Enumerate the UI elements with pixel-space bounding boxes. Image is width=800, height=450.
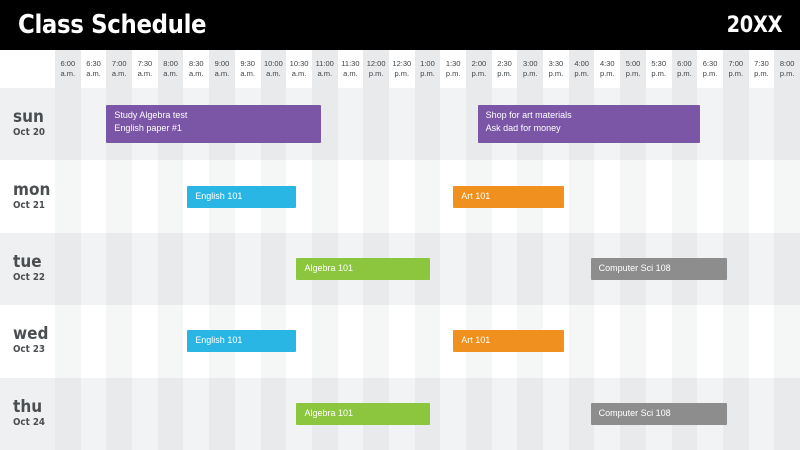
event-text: English paper #1 [114,122,313,135]
time-meridiem: p.m. [446,69,461,79]
event-text: Algebra 101 [304,407,422,420]
event-block[interactable]: Computer Sci 108 [591,258,727,280]
time-meridiem: p.m. [600,69,615,79]
time-meridiem: a.m. [266,69,281,79]
day-name: sun [13,108,51,126]
time-hour: 11:30 [341,59,359,69]
time-hour: 10:00 [264,59,283,69]
time-axis-label: 11:30a.m. [338,50,364,88]
time-axis-header: 6:00a.m.6:30a.m.7:00a.m.7:30a.m.8:00a.m.… [0,50,800,88]
time-hour: 6:30 [703,59,718,69]
event-block[interactable]: Shop for art materialsAsk dad for money [478,105,700,143]
time-axis-label: 4:30p.m. [594,50,620,88]
time-axis-label: 9:30a.m. [235,50,261,88]
time-hour: 3:30 [549,59,564,69]
schedule-page: Class Schedule 20XX 6:00a.m.6:30a.m.7:00… [0,0,800,450]
time-meridiem: p.m. [651,69,666,79]
time-axis-label: 2:30p.m. [492,50,518,88]
time-meridiem: p.m. [703,69,718,79]
time-axis-label: 4:00p.m. [569,50,595,88]
day-date: Oct 21 [13,199,52,213]
time-hour: 6:30 [86,59,101,69]
time-axis-label: 8:30a.m. [183,50,209,88]
time-axis-label: 10:30a.m. [286,50,312,88]
time-hour: 4:30 [600,59,615,69]
time-meridiem: a.m. [61,69,76,79]
time-axis-label: 12:00p.m. [363,50,389,88]
event-text: Art 101 [461,334,555,347]
day-date: Oct 20 [13,126,52,140]
time-axis-label: 6:30a.m. [81,50,107,88]
time-meridiem: p.m. [549,69,564,79]
time-meridiem: a.m. [343,69,358,79]
time-hour: 10:30 [290,59,309,69]
time-hour: 2:00 [472,59,487,69]
time-meridiem: a.m. [215,69,230,79]
time-meridiem: a.m. [86,69,101,79]
event-block[interactable]: Art 101 [453,186,563,208]
day-name: wed [13,325,51,343]
time-hour: 6:00 [677,59,692,69]
time-hour: 6:00 [61,59,76,69]
time-meridiem: p.m. [677,69,692,79]
time-meridiem: a.m. [163,69,178,79]
time-axis-label: 11:00a.m. [312,50,338,88]
day-date: Oct 22 [13,271,52,285]
time-axis-label: 12:30p.m. [389,50,415,88]
day-label-tue: tueOct 22 [0,233,55,305]
title-bar: Class Schedule 20XX [0,0,800,50]
time-hour: 8:00 [163,59,178,69]
time-axis-label: 6:30p.m. [697,50,723,88]
time-hour: 7:00 [112,59,127,69]
time-axis-label: 9:00a.m. [209,50,235,88]
day-row-sun: sunOct 20Study Algebra testEnglish paper… [0,88,800,160]
time-axis-label: 8:00p.m. [774,50,800,88]
time-axis-label: 3:30p.m. [543,50,569,88]
time-meridiem: p.m. [369,69,384,79]
day-row-mon: monOct 21English 101Art 101 [0,160,800,232]
page-title: Class Schedule [18,10,206,40]
time-hour: 12:30 [392,59,411,69]
time-axis-label: 7:00a.m. [106,50,132,88]
time-meridiem: p.m. [574,69,589,79]
event-text: Ask dad for money [486,122,692,135]
day-row-wed: wedOct 23English 101Art 101 [0,305,800,377]
event-text: English 101 [195,190,288,203]
day-name: thu [13,398,51,416]
year-label: 20XX [726,13,782,38]
time-axis-label: 6:00a.m. [55,50,81,88]
time-axis-label: 8:00a.m. [158,50,184,88]
time-hour: 1:30 [446,59,461,69]
time-meridiem: p.m. [626,69,641,79]
event-text: Study Algebra test [114,109,313,122]
time-hour: 8:30 [189,59,204,69]
event-text: Art 101 [461,190,555,203]
day-label-thu: thuOct 24 [0,378,55,450]
time-hour: 3:00 [523,59,538,69]
time-meridiem: p.m. [497,69,512,79]
day-label-sun: sunOct 20 [0,88,55,160]
day-label-wed: wedOct 23 [0,305,55,377]
time-axis-label: 1:00p.m. [415,50,441,88]
event-text: Algebra 101 [304,262,422,275]
time-hour: 9:30 [240,59,255,69]
day-row-tue: tueOct 22Algebra 101Computer Sci 108 [0,233,800,305]
event-text: Computer Sci 108 [599,407,719,420]
time-meridiem: a.m. [189,69,204,79]
time-meridiem: a.m. [240,69,255,79]
event-block[interactable]: Art 101 [453,330,563,352]
time-axis-label: 7:30a.m. [132,50,158,88]
time-meridiem: p.m. [754,69,769,79]
time-axis-label: 7:30p.m. [749,50,775,88]
time-meridiem: p.m. [523,69,538,79]
time-axis-label: 3:00p.m. [517,50,543,88]
day-date: Oct 23 [13,343,52,357]
day-name: mon [13,181,51,199]
event-text: English 101 [195,334,288,347]
time-axis-label: 2:00p.m. [466,50,492,88]
day-label-mon: monOct 21 [0,160,55,232]
day-rows: sunOct 20Study Algebra testEnglish paper… [0,88,800,450]
event-block[interactable]: Algebra 101 [296,403,430,425]
time-hour: 7:30 [138,59,153,69]
event-block[interactable]: English 101 [187,186,296,208]
time-axis-label: 7:00p.m. [723,50,749,88]
event-block[interactable]: English 101 [187,330,296,352]
event-block[interactable]: Computer Sci 108 [591,403,727,425]
event-text: Computer Sci 108 [599,262,719,275]
time-axis-label: 5:00p.m. [620,50,646,88]
time-axis-label: 1:30p.m. [440,50,466,88]
time-meridiem: a.m. [292,69,307,79]
time-hour: 4:00 [574,59,589,69]
time-meridiem: p.m. [472,69,487,79]
event-block[interactable]: Algebra 101 [296,258,430,280]
time-hour: 9:00 [215,59,230,69]
day-date: Oct 24 [13,416,52,430]
time-meridiem: a.m. [138,69,153,79]
day-row-thu: thuOct 24Algebra 101Computer Sci 108 [0,378,800,450]
time-hour: 11:00 [316,59,334,69]
time-hour: 5:30 [651,59,666,69]
time-hour: 12:00 [367,59,386,69]
time-hour: 8:00 [780,59,795,69]
schedule-grid: 6:00a.m.6:30a.m.7:00a.m.7:30a.m.8:00a.m.… [0,50,800,450]
time-meridiem: a.m. [112,69,127,79]
event-block[interactable]: Study Algebra testEnglish paper #1 [106,105,321,143]
time-meridiem: p.m. [420,69,435,79]
time-meridiem: p.m. [780,69,795,79]
time-meridiem: a.m. [317,69,332,79]
time-axis-label: 10:00a.m. [261,50,287,88]
time-hour: 7:30 [754,59,769,69]
time-axis-label: 5:30p.m. [646,50,672,88]
time-hour: 2:30 [497,59,512,69]
event-text: Shop for art materials [486,109,692,122]
time-hour: 1:00 [420,59,435,69]
time-hour: 5:00 [626,59,641,69]
time-meridiem: p.m. [395,69,410,79]
time-axis-label: 6:00p.m. [672,50,698,88]
time-hour: 7:00 [728,59,743,69]
time-meridiem: p.m. [728,69,743,79]
day-name: tue [13,253,51,271]
